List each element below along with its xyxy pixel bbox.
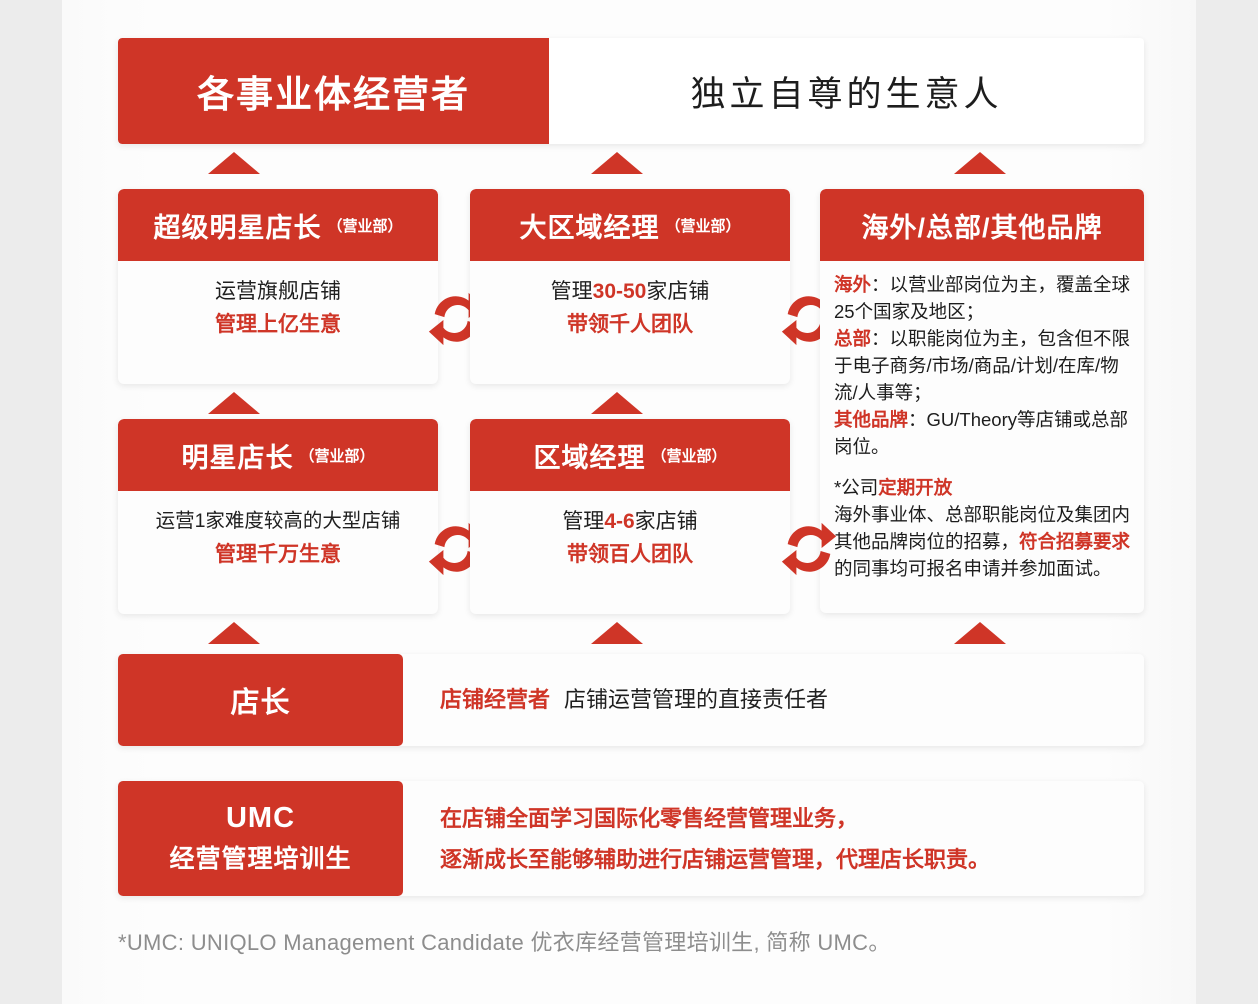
row-umc-title-line2: 经营管理培训生 [169,839,351,875]
card-super-star-manager[interactable]: 超级明星店长 （营业部） 运营旗舰店铺 管理上亿生意 [118,189,438,384]
banner-red-block: 各事业体经营者 [118,38,549,144]
card-line-2: 带领千人团队 [470,308,790,341]
card-header: 海外/总部/其他品牌 [820,189,1144,261]
up-triangle-icon-col1-mid [208,392,260,414]
row-store-manager-desc: 店铺经营者 店铺运营管理的直接责任者 [440,682,828,714]
up-triangle-icon-col3-top [954,152,1006,174]
card-line-1: 管理4-6家店铺 [470,505,790,538]
card-line-2: 管理上亿生意 [118,308,438,341]
info-text: ：以营业部岗位为主，覆盖全球25个国家及地区； [834,274,1130,322]
card-dept: （营业部） [299,445,374,466]
info-paragraph-brands: 其他品牌：GU/Theory等店铺或总部岗位。 [834,406,1132,460]
card-dept: （营业部） [327,215,402,236]
card-line-1: 管理30-50家店铺 [470,275,790,308]
card-header: 超级明星店长 （营业部） [118,189,438,261]
card-line-1: 运营旗舰店铺 [118,275,438,308]
line-suffix: 家店铺 [635,510,698,533]
card-title: 大区域经理 [519,206,659,245]
info-note-text-post: 的同事均可报名申请并参加面试。 [834,558,1112,579]
row-store-manager-key: 店铺经营者 [440,682,550,714]
career-path-diagram: 各事业体经营者 独立自尊的生意人 超级明星店长 （营业部） 运营旗舰店铺 管理上… [0,0,1258,1004]
info-paragraph-note-body: 海外事业体、总部职能岗位及集团内其他品牌岗位的招募，符合招募要求的同事均可报名申… [834,501,1132,582]
row-umc-text-line2: 逐渐成长至能够辅助进行店铺运营管理，代理店长职责。 [440,839,990,880]
row-umc-text-line1: 在店铺全面学习国际化零售经营管理业务， [440,798,990,839]
footnote: *UMC: UNIQLO Management Candidate 优衣库经营管… [118,925,891,957]
swap-arrows-icon-row3-right [778,518,840,580]
info-note-key: 定期开放 [878,477,952,498]
row-store-manager-badge: 店长 [118,654,403,746]
card-header: 大区域经理 （营业部） [470,189,790,261]
card-header: 明星店长 （营业部） [118,419,438,491]
line-number: 30-50 [593,280,647,303]
info-key: 其他品牌 [834,409,908,430]
card-dept: （营业部） [651,445,726,466]
row-umc-title-line1: UMC [226,802,295,835]
line-prefix: 管理 [562,510,604,533]
card-regional-gm[interactable]: 大区域经理 （营业部） 管理30-50家店铺 带领千人团队 [470,189,790,384]
info-paragraph-hq: 总部：以职能岗位为主，包含但不限于电子商务/市场/商品/计划/在库/物流/人事等… [834,325,1132,406]
card-body: 管理4-6家店铺 带领百人团队 [470,491,790,571]
info-paragraph-note-title: *公司定期开放 [834,474,1132,501]
card-body: 运营1家难度较高的大型店铺 管理千万生意 [118,491,438,571]
card-title: 超级明星店长 [153,206,321,245]
card-body: 海外：以营业部岗位为主，覆盖全球25个国家及地区； 总部：以职能岗位为主，包含但… [820,261,1144,590]
card-dept: （营业部） [665,215,740,236]
row-umc-desc: 在店铺全面学习国际化零售经营管理业务， 逐渐成长至能够辅助进行店铺运营管理，代理… [440,798,990,880]
line-number: 4-6 [604,510,634,533]
card-body: 管理30-50家店铺 带领千人团队 [470,261,790,341]
line-suffix: 家店铺 [646,280,709,303]
card-line-1: 运营1家难度较高的大型店铺 [118,505,438,538]
card-header: 区域经理 （营业部） [470,419,790,491]
info-text: ：以职能岗位为主，包含但不限于电子商务/市场/商品/计划/在库/物流/人事等； [834,328,1130,403]
banner-white-label: 独立自尊的生意人 [690,66,1002,117]
card-line-2: 管理千万生意 [118,538,438,571]
banner-white-block: 独立自尊的生意人 [549,38,1144,144]
info-note-prefix: *公司 [834,477,878,498]
line-prefix: 管理 [551,280,593,303]
row-store-manager-title: 店长 [230,679,290,721]
top-banner: 各事业体经营者 独立自尊的生意人 [118,38,1144,144]
info-key: 总部 [834,328,871,349]
up-triangle-icon-col3-low [954,622,1006,644]
banner-red-label: 各事业体经营者 [197,64,470,118]
card-overseas-hq-brands[interactable]: 海外/总部/其他品牌 海外：以营业部岗位为主，覆盖全球25个国家及地区； 总部：… [820,189,1144,613]
info-note-text-key: 符合招募要求 [1019,531,1130,552]
up-triangle-icon-col2-mid [591,392,643,414]
up-triangle-icon-col2-low [591,622,643,644]
card-line-2: 带领百人团队 [470,538,790,571]
card-title: 明星店长 [181,436,293,475]
card-body: 运营旗舰店铺 管理上亿生意 [118,261,438,341]
up-triangle-icon-col1-low [208,622,260,644]
info-paragraph-overseas: 海外：以营业部岗位为主，覆盖全球25个国家及地区； [834,271,1132,325]
card-area-manager[interactable]: 区域经理 （营业部） 管理4-6家店铺 带领百人团队 [470,419,790,614]
card-title: 海外/总部/其他品牌 [861,206,1102,245]
up-triangle-icon-col2-top [591,152,643,174]
card-title: 区域经理 [533,436,645,475]
row-store-manager-value: 店铺运营管理的直接责任者 [564,682,828,714]
info-key: 海外 [834,274,871,295]
card-star-manager[interactable]: 明星店长 （营业部） 运营1家难度较高的大型店铺 管理千万生意 [118,419,438,614]
row-umc-badge: UMC 经营管理培训生 [118,781,403,896]
up-triangle-icon-col1-top [208,152,260,174]
